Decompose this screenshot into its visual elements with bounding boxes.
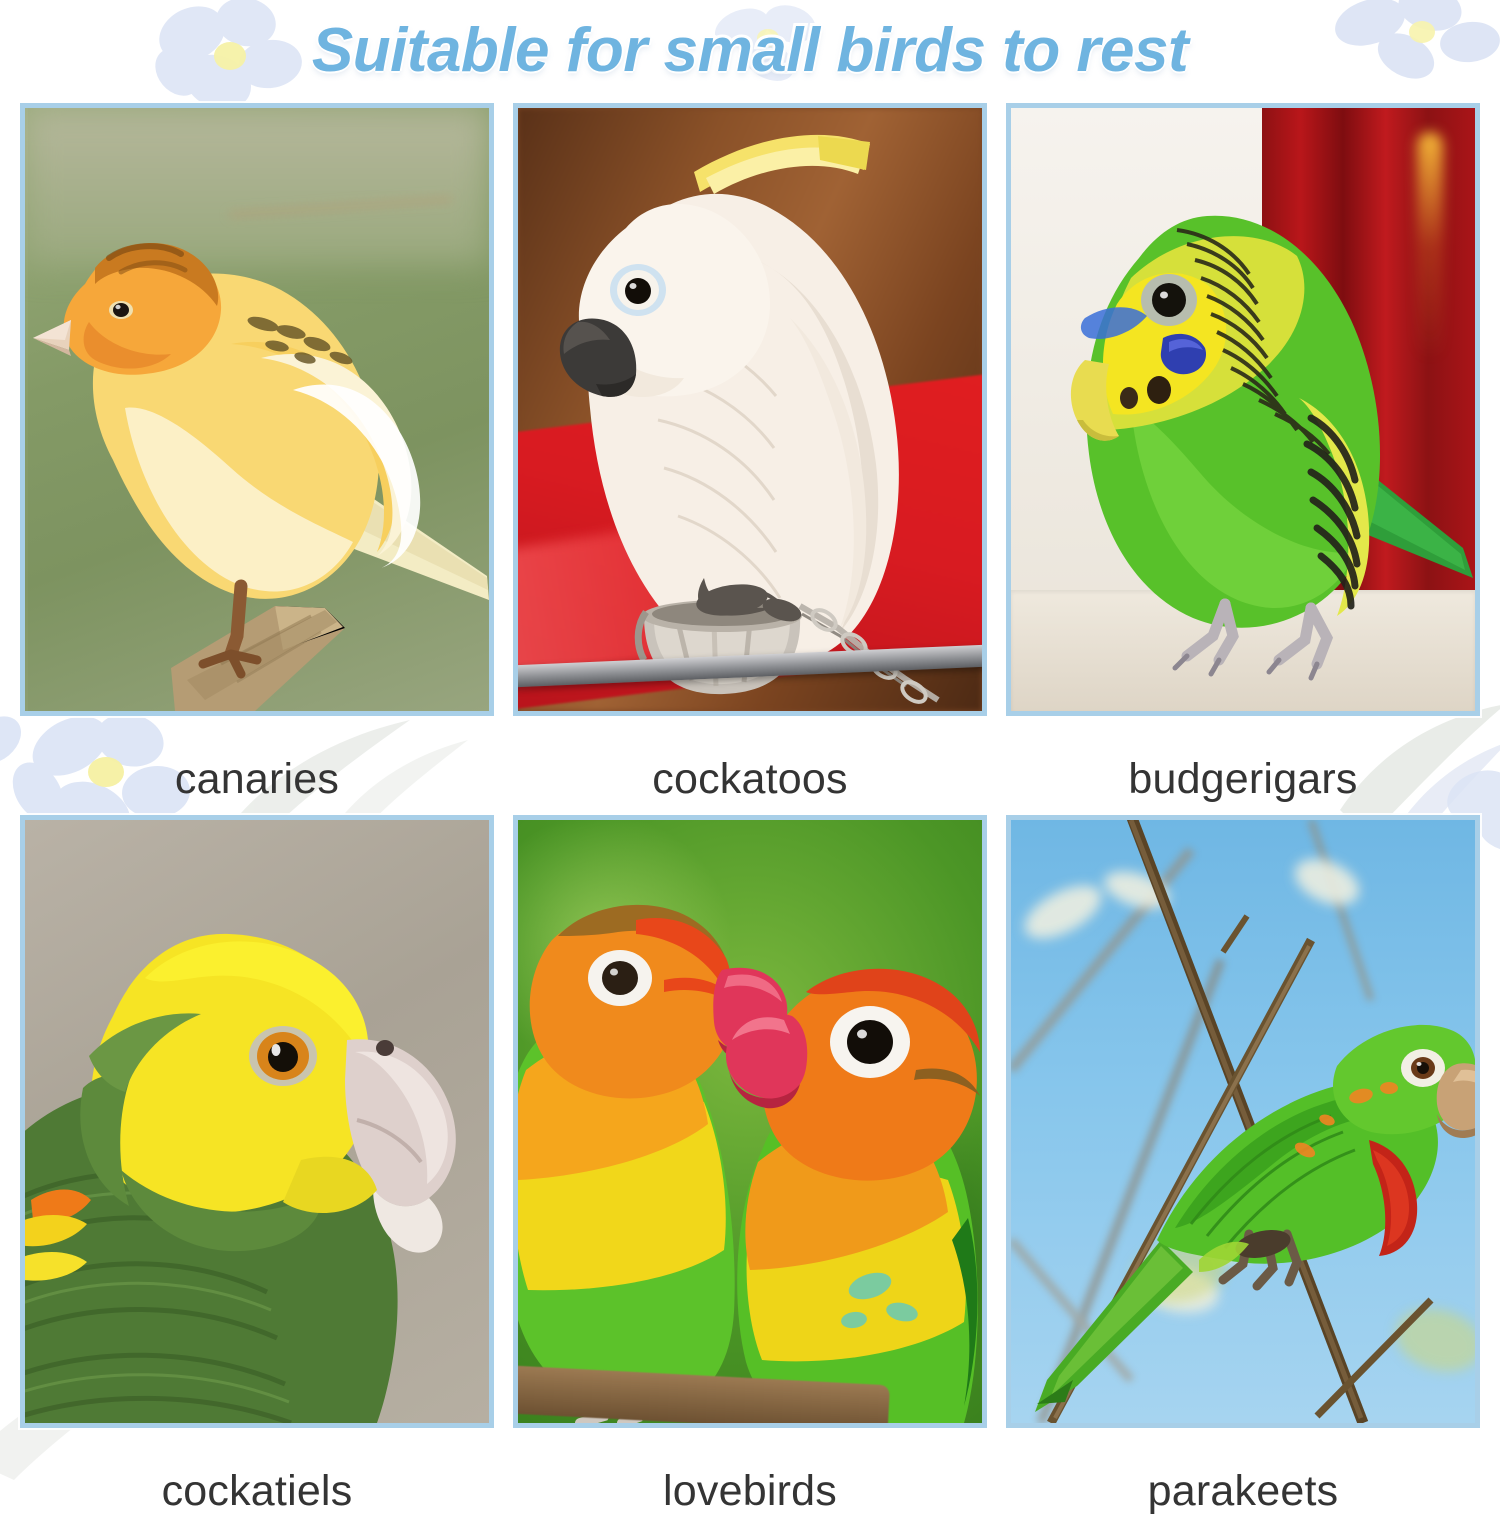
gallery-item-cockatoos[interactable]: cockatoos	[513, 103, 987, 819]
photo-canaries[interactable]	[20, 103, 494, 716]
gallery-item-canaries[interactable]: canaries	[20, 103, 494, 819]
page-title: Suitable for small birds to rest	[312, 15, 1188, 86]
amazon-eye	[249, 1026, 317, 1086]
gallery-item-cockatiels[interactable]: cockatiels	[20, 815, 494, 1531]
photo-parakeets[interactable]	[1006, 815, 1480, 1428]
budgie-eye	[1141, 274, 1197, 326]
cockatoo-eye	[610, 264, 666, 316]
photo-lovebirds[interactable]	[513, 815, 987, 1428]
cockatoo-illustration	[518, 108, 982, 711]
photo-budgerigars[interactable]	[1006, 103, 1480, 716]
photo-cockatoos[interactable]	[513, 103, 987, 716]
caption-cockatoos: cockatoos	[513, 716, 987, 819]
caption-canaries: canaries	[20, 716, 494, 819]
gallery-item-parakeets[interactable]: parakeets	[1006, 815, 1480, 1531]
header-banner: Suitable for small birds to rest	[0, 0, 1500, 100]
amazon-parrot-illustration	[25, 820, 489, 1423]
caption-cockatiels: cockatiels	[20, 1428, 494, 1531]
parakeet-scene-illustration	[1011, 820, 1475, 1423]
cockatoo-crest	[694, 135, 870, 194]
gallery-item-lovebirds[interactable]: lovebirds	[513, 815, 987, 1531]
budgerigar-illustration	[1011, 108, 1475, 711]
bird-gallery-grid: canaries	[0, 103, 1500, 1531]
lovebirds-illustration	[518, 820, 982, 1423]
canary-illustration	[25, 108, 489, 711]
caption-parakeets: parakeets	[1006, 1428, 1480, 1531]
caption-lovebirds: lovebirds	[513, 1428, 987, 1531]
gallery-item-budgerigars[interactable]: budgerigars	[1006, 103, 1480, 819]
caption-budgerigars: budgerigars	[1006, 716, 1480, 819]
lovebird-right	[726, 969, 980, 1423]
photo-cockatiels[interactable]	[20, 815, 494, 1428]
